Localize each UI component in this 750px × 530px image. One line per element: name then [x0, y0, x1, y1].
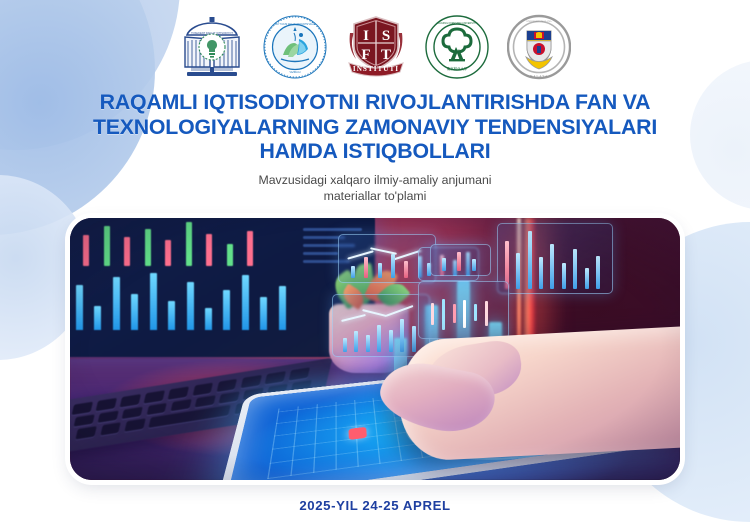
monitor-candlestick-chart: [70, 218, 309, 266]
conference-poster: TOSHKENT DAVLAT IQTISODIYOT OLIY TA'LIM …: [0, 0, 750, 530]
partner-logos-row: TOSHKENT DAVLAT IQTISODIYOT OLIY TA'LIM …: [0, 12, 750, 82]
title-line-2: TEXNOLOGIYALARNING ZAMONAVIY TENDENSIYAL…: [55, 115, 695, 140]
holo-card-bar-chart-right: [497, 223, 613, 294]
subtitle-line-2: materiallar to'plami: [0, 188, 750, 204]
svg-text:S: S: [382, 28, 390, 44]
svg-text:I: I: [363, 28, 369, 44]
subtitle-line-1: Mavzusidagi xalqaro ilmiy-amaliy anjuman…: [0, 172, 750, 188]
digital-economy-hero-image: [70, 218, 680, 480]
human-hand: [396, 325, 680, 462]
svg-text:MALAYA: MALAYA: [530, 74, 549, 78]
green-tree-circular-emblem-icon: NANJING FORESTRY UNIVERSITY 南京林业大学: [425, 15, 489, 79]
tdiu-open-book-emblem-icon: TOSHKENT DAVLAT IQTISODIYOT: [179, 15, 245, 79]
holo-card-line-and-bars-center: [332, 294, 430, 357]
holo-card-candlestick: [418, 281, 510, 339]
conference-date: 2025-YIL 24-25 APREL: [0, 498, 750, 513]
poster-subtitle: Mavzusidagi xalqaro ilmiy-amaliy anjuman…: [0, 172, 750, 204]
ministry-circular-emblem-icon: OLIY TA'LIM FAN VA INNOVATSIYALAR VAZIRL…: [263, 15, 327, 79]
holo-card-mini: [430, 244, 491, 275]
svg-text:T: T: [381, 47, 391, 63]
svg-text:南京林业大学: 南京林业大学: [447, 66, 468, 71]
title-line-3: HAMDA ISTIQBOLLARI: [55, 139, 695, 164]
isft-shield-emblem-icon: I S F T INSTITUTI: [345, 13, 407, 81]
svg-text:INSTITUTI: INSTITUTI: [353, 65, 399, 73]
university-of-malaya-emblem-icon: UNIVERSITI MALAYA MALAYA: [507, 11, 571, 83]
svg-text:TOSHKENT DAVLAT IQTISODIYOT: TOSHKENT DAVLAT IQTISODIYOT: [191, 31, 233, 35]
monitor-bar-chart: [70, 269, 316, 331]
svg-text:OLIY TA'LIM FAN VA INNOVATSIYA: OLIY TA'LIM FAN VA INNOVATSIYALAR: [274, 23, 316, 26]
svg-text:VAZIRLIGI: VAZIRLIGI: [290, 71, 301, 74]
svg-text:UNIVERSITI MALAYA: UNIVERSITI MALAYA: [526, 20, 551, 23]
title-line-1: RAQAMLI IQTISODIYOTNI RIVOJLANTIRISHDA F…: [55, 90, 695, 115]
svg-text:NANJING FORESTRY UNIVERSITY: NANJING FORESTRY UNIVERSITY: [437, 22, 477, 25]
poster-title: RAQAMLI IQTISODIYOTNI RIVOJLANTIRISHDA F…: [55, 90, 695, 164]
svg-text:F: F: [361, 47, 370, 63]
